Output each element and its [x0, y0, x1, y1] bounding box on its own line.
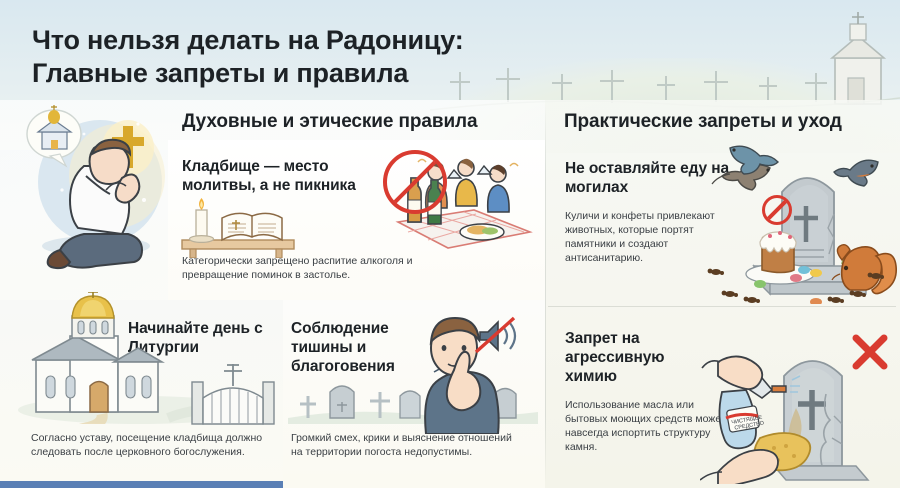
bird-icon: [834, 160, 878, 186]
section-heading-spiritual: Духовные и этические правила: [182, 111, 477, 133]
page-title-line-2: Главные запреты и правила: [32, 57, 512, 90]
chemical-cleaning-scene: ЧИСТЯЩЕЕ СРЕДСТВО: [700, 324, 900, 484]
bird-icon: [730, 146, 778, 174]
grave-food-scene: [700, 144, 900, 304]
right-column-rule: [548, 306, 896, 307]
muted-speaker-icon: [476, 318, 515, 352]
picnic-card-body: Категорически запрещено распитие алкогол…: [182, 254, 432, 282]
infographic-page: Что нельзя делать на Радоницу: Главные з…: [0, 0, 900, 488]
chemistry-card-title: Запрет на агрессивную химию: [565, 330, 705, 387]
page-title: Что нельзя делать на Радоницу: Главные з…: [32, 24, 512, 91]
shushing-man-icon: [398, 312, 518, 434]
praying-man-icon: [22, 104, 170, 274]
silence-card-body: Громкий смех, крики и выяснение отношени…: [291, 431, 526, 459]
red-cross-icon: [856, 338, 884, 366]
easter-cake-icon: [760, 231, 796, 273]
candle-icon: [190, 198, 214, 242]
liturgy-card-body: Согласно уставу, посещение кладбища долж…: [31, 431, 266, 459]
accent-bar: [0, 481, 283, 488]
prohibition-sign-icon: [383, 150, 447, 214]
cemetery-gate-icon: [188, 358, 278, 426]
open-bible-icon: [222, 213, 282, 240]
candle-and-bible-icon: [176, 196, 296, 258]
page-title-line-1: Что нельзя делать на Радоницу:: [32, 24, 512, 57]
prohibition-sign-icon-food: [762, 195, 792, 225]
food-card-body: Куличи и конфеты привлекают животных, ко…: [565, 209, 715, 265]
section-heading-practical: Практические запреты и уход: [564, 111, 842, 133]
picnic-card-title: Кладбище — место молитвы, а не пикника: [182, 158, 382, 196]
